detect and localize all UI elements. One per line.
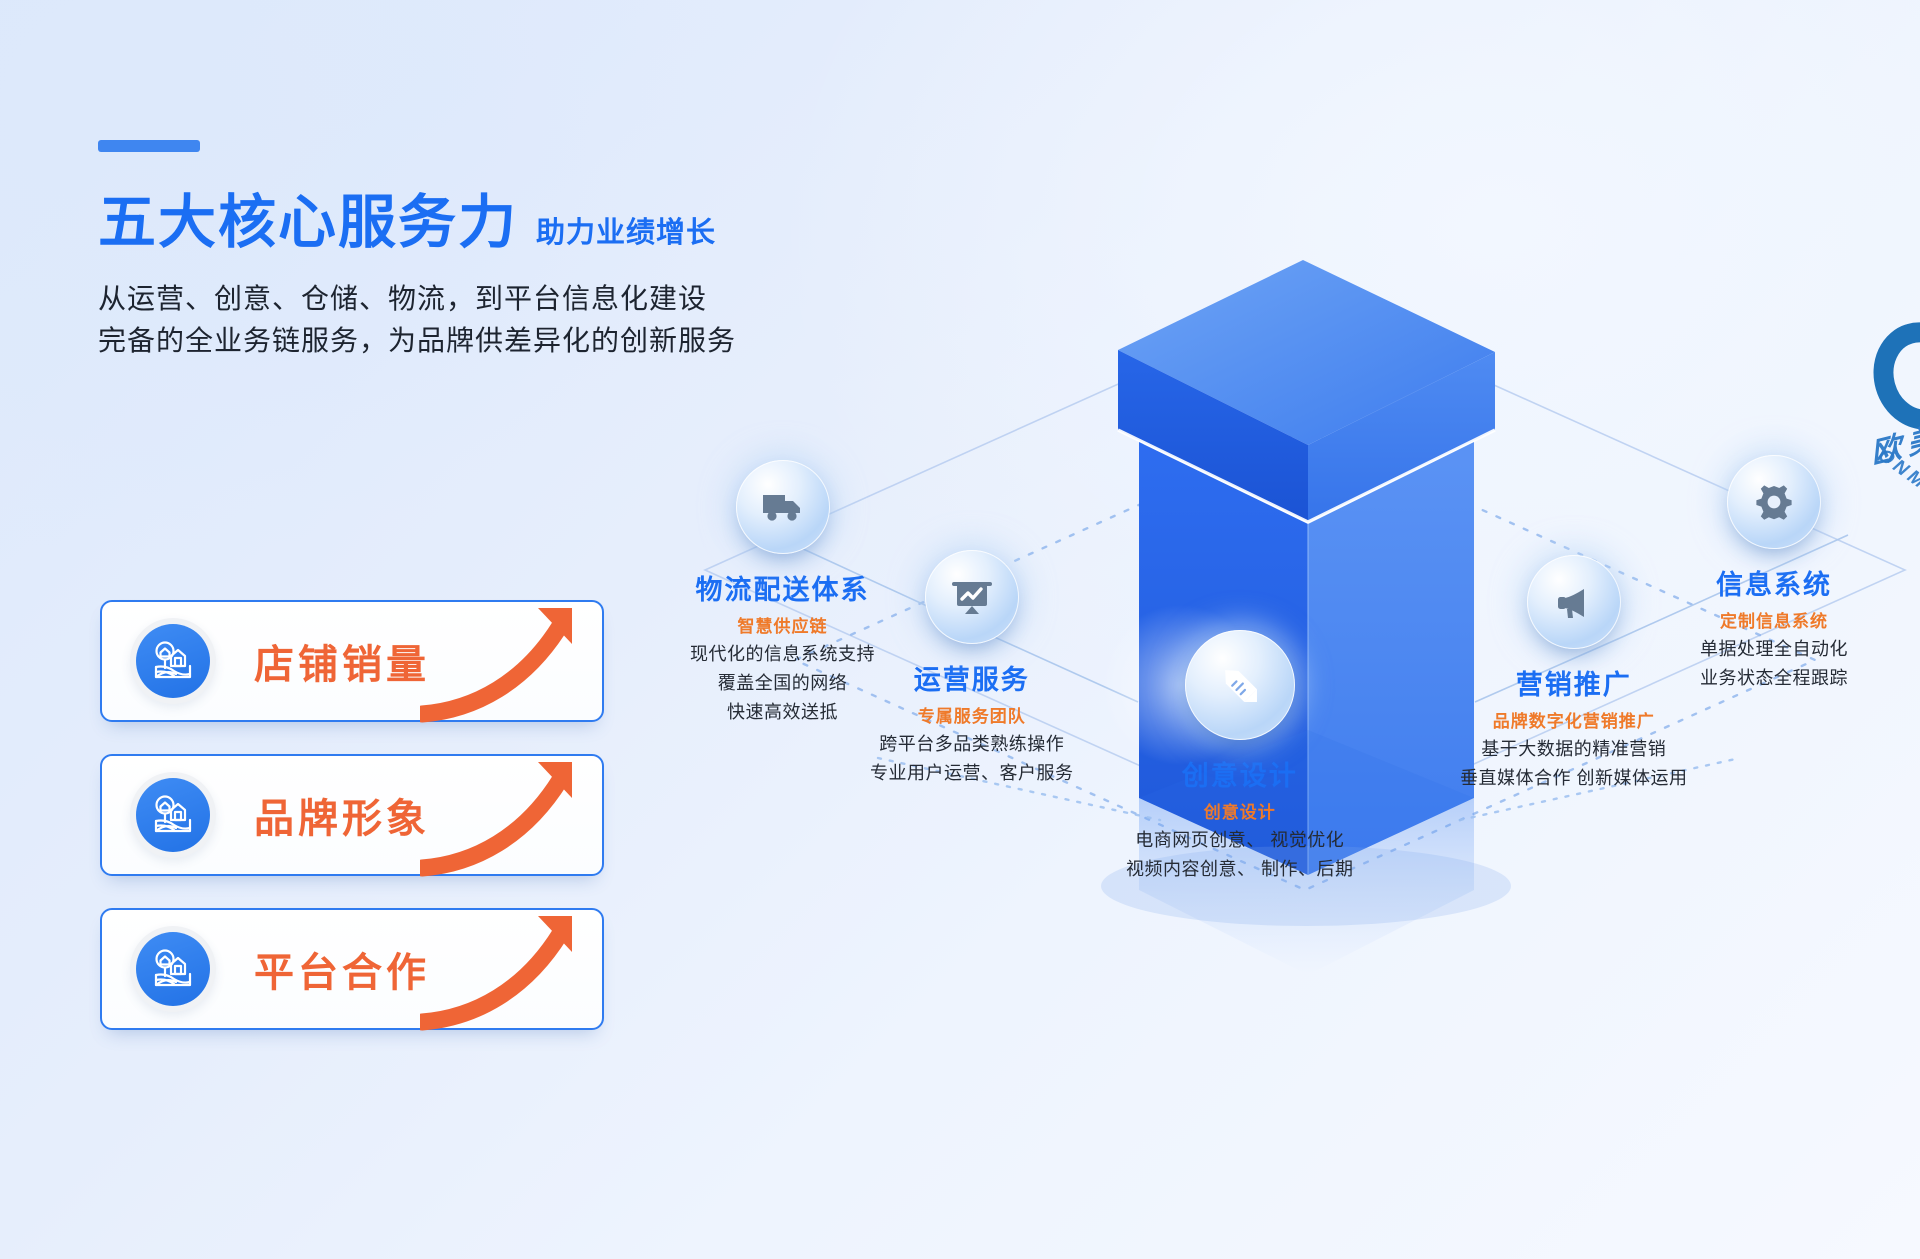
node-line: 业务状态全程跟踪 (1700, 664, 1848, 690)
card-icon-backdrop (130, 772, 216, 858)
megaphone-icon (1550, 578, 1598, 626)
truck-icon (759, 483, 807, 531)
growth-arrow-icon (420, 586, 610, 736)
node-creative[interactable]: 创意设计 创意设计 电商网页创意、 视觉优化 视频内容创意、 制作、后期 (1126, 630, 1354, 881)
node-line: 基于大数据的精准营销 (1460, 735, 1688, 761)
pen-ruler-icon (1213, 658, 1267, 712)
information-bubble (1727, 455, 1821, 549)
growth-arrow-icon (420, 894, 610, 1044)
shop-location-icon (136, 624, 210, 698)
information-text: 信息系统 定制信息系统 单据处理全自动化 业务状态全程跟踪 (1700, 563, 1848, 690)
shop-location-icon (136, 778, 210, 852)
node-line: 单据处理全自动化 (1700, 635, 1848, 661)
node-logistics[interactable]: 物流配送体系 智慧供应链 现代化的信息系统支持 覆盖全国的网络 快速高效送抵 (690, 460, 875, 724)
service-card-label: 店铺销量 (254, 632, 430, 690)
node-subtitle: 定制信息系统 (1700, 607, 1848, 632)
card-icon-backdrop (130, 618, 216, 704)
shop-location-icon (136, 932, 210, 1006)
node-title: 信息系统 (1700, 563, 1848, 602)
node-marketing[interactable]: 营销推广 品牌数字化营销推广 基于大数据的精准营销 垂直媒体合作 创新媒体运用 (1460, 555, 1688, 790)
service-card[interactable]: 店铺销量 (100, 600, 604, 722)
node-subtitle: 创意设计 (1126, 798, 1354, 823)
node-line: 跨平台多品类熟练操作 (870, 730, 1074, 756)
service-card-list: 店铺销量 (100, 600, 620, 1062)
node-operations[interactable]: 运营服务 专属服务团队 跨平台多品类熟练操作 专业用户运营、客户服务 (870, 550, 1074, 785)
creative-bubble (1185, 630, 1295, 740)
company-logo-plate: 欧美斯集团 ONMOUSE GROUP (1860, 320, 1920, 530)
node-line: 视频内容创意、 制作、后期 (1126, 855, 1354, 881)
node-title: 物流配送体系 (690, 568, 875, 607)
service-card[interactable]: 平台合作 (100, 908, 604, 1030)
service-card-label: 平台合作 (254, 940, 430, 998)
infographic-canvas: 五大核心服务力 助力业绩增长 从运营、创意、仓储、物流，到平台信息化建设 完备的… (0, 0, 1920, 1259)
node-line: 专业用户运营、客户服务 (870, 759, 1074, 785)
node-title: 营销推广 (1460, 663, 1688, 702)
operations-bubble (925, 550, 1019, 644)
operations-text: 运营服务 专属服务团队 跨平台多品类熟练操作 专业用户运营、客户服务 (870, 658, 1074, 785)
node-information[interactable]: 信息系统 定制信息系统 单据处理全自动化 业务状态全程跟踪 (1700, 455, 1848, 690)
service-card-label: 品牌形象 (254, 786, 430, 844)
marketing-bubble (1527, 555, 1621, 649)
node-line: 垂直媒体合作 创新媒体运用 (1460, 764, 1688, 790)
node-subtitle: 专属服务团队 (870, 702, 1074, 727)
presentation-chart-icon (948, 573, 996, 621)
accent-bar (98, 140, 200, 152)
node-line: 现代化的信息系统支持 (690, 640, 875, 666)
node-line: 快速高效送抵 (690, 698, 875, 724)
gear-icon (1750, 478, 1798, 526)
marketing-text: 营销推广 品牌数字化营销推广 基于大数据的精准营销 垂直媒体合作 创新媒体运用 (1460, 663, 1688, 790)
growth-arrow-icon (420, 740, 610, 890)
node-line: 覆盖全国的网络 (690, 669, 875, 695)
service-card[interactable]: 品牌形象 (100, 754, 604, 876)
node-title: 运营服务 (870, 658, 1074, 697)
page-title: 五大核心服务力 (98, 194, 518, 252)
node-subtitle: 智慧供应链 (690, 612, 875, 637)
logistics-text: 物流配送体系 智慧供应链 现代化的信息系统支持 覆盖全国的网络 快速高效送抵 (690, 568, 875, 724)
creative-text: 创意设计 创意设计 电商网页创意、 视觉优化 视频内容创意、 制作、后期 (1126, 754, 1354, 881)
isometric-scene: 欧美斯集团 ONMOUSE GROUP 物流配送体系 智慧供应链 现代化的信息系… (690, 130, 1920, 1230)
card-icon-backdrop (130, 926, 216, 1012)
node-line: 电商网页创意、 视觉优化 (1126, 826, 1354, 852)
logistics-bubble (736, 460, 830, 554)
node-subtitle: 品牌数字化营销推广 (1460, 707, 1688, 732)
